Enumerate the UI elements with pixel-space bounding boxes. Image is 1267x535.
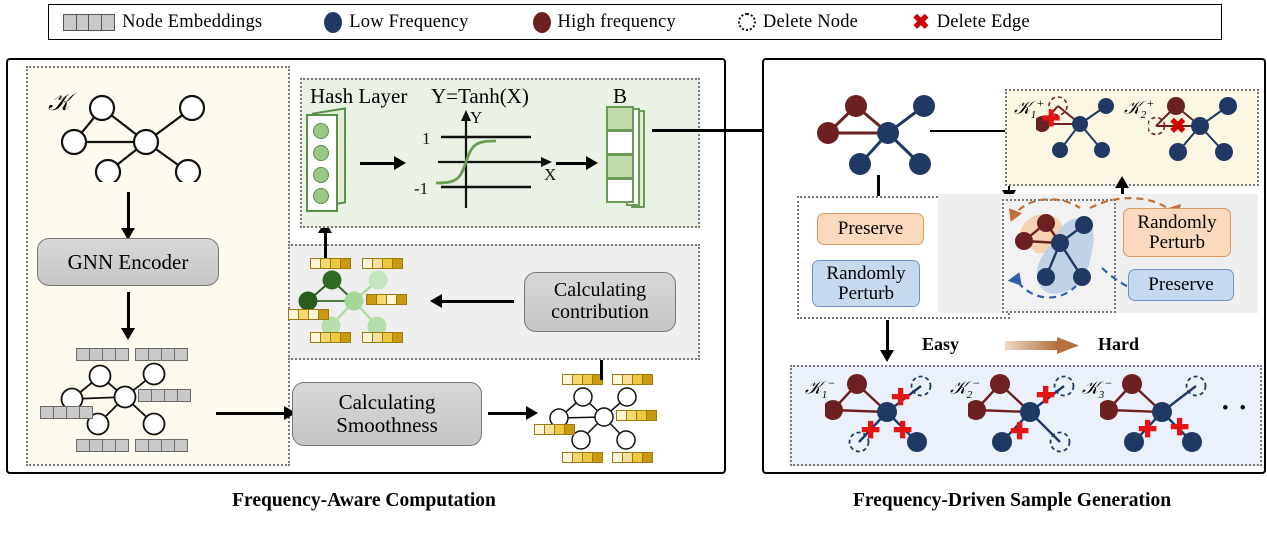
preserve-high-frequency-box[interactable]: Preserve: [817, 213, 924, 245]
contribution-embedding-bar: [362, 258, 403, 269]
gold-embedding-bar: [534, 424, 575, 435]
delete-marker-plus-icon: ✚: [1010, 420, 1029, 443]
delete-marker-plus-icon: ✚: [1170, 416, 1189, 439]
high-frequency-dot-icon: [533, 12, 551, 33]
contribution-label-line2: contribution: [551, 302, 649, 324]
negative-sample-2-svg: [968, 372, 1088, 458]
smoothness-label-line1: Calculating: [339, 391, 436, 414]
frequency-colored-graph: [816, 88, 966, 188]
perturb-low-frequency-box[interactable]: Randomly Perturb: [812, 260, 920, 307]
arrow-elbow-horizontal: [930, 130, 1010, 132]
node-embedding-bar: [40, 406, 93, 419]
contribution-embedding-bar: [362, 332, 403, 343]
legend-label-high-frequency: High frequency: [558, 12, 676, 33]
legend-item-delete-edge: ✖ Delete Edge: [912, 12, 1030, 33]
node-embedding-bar: [138, 389, 191, 402]
preserve-high-label: Preserve: [838, 219, 903, 239]
perturb-high-label-line1: Randomly: [1137, 213, 1216, 233]
contribution-embedding-bar: [310, 332, 351, 343]
low-frequency-dot-icon: [324, 12, 342, 33]
negative-sample-3-svg: [1100, 372, 1220, 458]
gold-embedding-bar: [612, 452, 653, 463]
delete-edge-x-icon: ✖: [1169, 116, 1187, 137]
hard-label: Hard: [1098, 334, 1139, 355]
legend-label-node-embeddings: Node Embeddings: [122, 12, 262, 33]
perturb-low-label-line2: Perturb: [838, 284, 894, 304]
b-matrix-cell: [606, 106, 634, 131]
b-matrix-cell: [606, 178, 634, 203]
node-embedding-bar: [76, 439, 129, 452]
svg-text:1: 1: [422, 129, 431, 148]
calculating-smoothness-box[interactable]: Calculating Smoothness: [292, 382, 482, 446]
svg-text:-1: -1: [414, 179, 428, 198]
legend-item-low-frequency: Low Frequency: [324, 12, 468, 33]
b-matrix: [606, 106, 652, 210]
contribution-graph-green: [292, 256, 432, 346]
arrow-contribution-to-greengraph: [440, 300, 514, 303]
hash-unit-dot: [313, 123, 329, 139]
arrow-contribution-to-hash: [324, 232, 327, 258]
preserve-low-label: Preserve: [1148, 275, 1213, 295]
hash-unit-dot: [313, 188, 329, 204]
hash-layer-card: [306, 114, 338, 212]
gnn-encoder-box[interactable]: GNN Encoder: [37, 238, 219, 286]
tanh-plot-svg: Y X 1 -1: [414, 104, 574, 214]
arrow-tanh-to-b: [556, 162, 588, 165]
legend-bar: Node Embeddings Low Frequency High frequ…: [48, 4, 1222, 40]
svg-text:X: X: [544, 165, 556, 184]
delete-marker-plus-icon: ✚: [891, 386, 910, 409]
tanh-plot: Y X 1 -1: [414, 104, 574, 214]
legend-item-delete-node: Delete Node: [738, 12, 858, 33]
embedded-graph-gray: [38, 344, 238, 462]
easy-label: Easy: [922, 334, 959, 355]
arrow-head-right-b: [586, 156, 598, 170]
hash-unit-dot: [313, 145, 329, 161]
preserve-low-frequency-box[interactable]: Preserve: [1128, 269, 1234, 301]
legend-label-delete-node: Delete Node: [763, 12, 858, 33]
perturb-high-frequency-box[interactable]: Randomly Perturb: [1123, 208, 1231, 257]
arrow-encoder-to-embgraph: [127, 292, 130, 330]
perturb-high-label-line2: Perturb: [1149, 233, 1205, 253]
arrow-smoothness-to-goldgraph: [488, 412, 528, 415]
negative-sample-1-svg: [825, 372, 945, 458]
negative-sample-1-graph: ✚ ✚ ✚: [825, 372, 945, 458]
input-graph: [60, 92, 220, 182]
delete-marker-plus-icon: ✚: [861, 419, 880, 442]
delete-marker-plus-icon: ✚: [893, 419, 912, 442]
legend-item-node-embeddings: Node Embeddings: [63, 12, 262, 33]
negative-sample-3-graph: ✚ ✚: [1100, 372, 1220, 458]
delete-marker-plus-icon: ✚: [1138, 418, 1157, 441]
arrow-head-down-negative: [880, 350, 894, 362]
embedding-blocks-icon: [63, 14, 115, 31]
arrow-head-right-tanh: [394, 156, 406, 170]
negative-samples-ellipsis: • •: [1222, 398, 1249, 420]
legend-label-low-frequency: Low Frequency: [349, 12, 468, 33]
b-matrix-cell: [606, 130, 634, 155]
left-panel-caption: Frequency-Aware Computation: [6, 490, 722, 512]
arrow-graph-to-encoder: [127, 192, 130, 230]
negative-sample-2-graph: ✚ ✚: [968, 372, 1088, 458]
delete-marker-plus-icon: ✚: [1036, 384, 1055, 407]
legend-item-high-frequency: High frequency: [533, 12, 676, 33]
arrow-head-down-embgraph: [121, 328, 135, 340]
perturb-low-label-line1: Randomly: [826, 264, 905, 284]
right-panel-caption: Frequency-Driven Sample Generation: [762, 490, 1262, 512]
positive-sample-2-svg: [1148, 96, 1244, 172]
gnn-encoder-label: GNN Encoder: [68, 251, 189, 274]
arrow-hash-to-tanh: [360, 162, 396, 165]
node-embedding-bar: [135, 439, 188, 452]
smoothness-label-line2: Smoothness: [336, 414, 438, 437]
arrow-embgraph-to-smoothness: [216, 412, 286, 415]
contribution-embedding-bar: [288, 309, 329, 320]
contribution-embedding-bar: [310, 258, 351, 269]
contribution-embedding-bar: [366, 294, 407, 305]
arrow-head-up-positive: [1115, 176, 1129, 188]
gold-embedding-bar: [562, 452, 603, 463]
delete-edge-plus-icon: ✚: [1042, 108, 1060, 130]
gold-embedding-bar: [616, 410, 657, 421]
positive-sample-2-graph: ✖: [1148, 96, 1244, 172]
input-graph-edges: [60, 92, 220, 182]
gold-embedding-bar: [562, 374, 603, 385]
arrow-strategy-to-negative: [886, 320, 889, 352]
delete-edge-x-icon: ✖: [912, 12, 930, 33]
positive-sample-1-graph: ✚: [1036, 96, 1120, 172]
contribution-label-line1: Calculating: [554, 280, 646, 302]
calculating-contribution-box[interactable]: Calculating contribution: [524, 272, 676, 332]
delete-node-circle-icon: [738, 13, 756, 31]
hash-unit-dot: [313, 167, 329, 183]
hash-layer-title: Hash Layer: [310, 84, 407, 109]
smoothness-graph-gold: [534, 368, 694, 468]
frequency-colored-graph-svg: [816, 88, 966, 188]
easy-to-hard-arrow: [1005, 336, 1083, 358]
svg-text:Y: Y: [470, 108, 482, 127]
node-embedding-bar: [135, 348, 188, 361]
legend-label-delete-edge: Delete Edge: [937, 12, 1030, 33]
gold-embedding-bar: [612, 374, 653, 385]
b-matrix-cell: [606, 154, 634, 179]
node-embedding-bar: [76, 348, 129, 361]
